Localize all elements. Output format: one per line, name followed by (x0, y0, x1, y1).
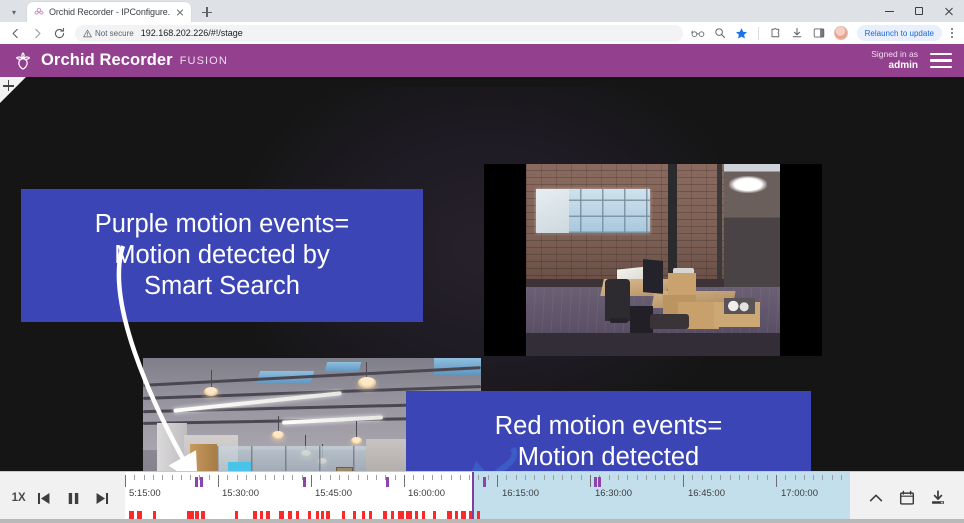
pause-icon[interactable] (62, 487, 84, 509)
timeline-label: 17:00:00 (781, 488, 818, 499)
orchid-app-header: Orchid Recorder FUSION Signed in as admi… (0, 44, 964, 77)
purple-motion-event[interactable] (598, 477, 601, 487)
tab-search-icon[interactable]: ▾ (3, 2, 25, 22)
app-root: ▾ Orchid Recorder - IPConfigure. (0, 0, 964, 523)
purple-annotation-text: Purple motion events= Motion detected by… (95, 209, 349, 302)
close-window-button[interactable] (934, 0, 964, 22)
skip-next-icon[interactable] (91, 487, 113, 509)
reload-icon[interactable] (48, 22, 70, 44)
red-annotation-text: Red motion events= Motion detected witho… (487, 411, 731, 471)
browser-tabstrip: ▾ Orchid Recorder - IPConfigure. (0, 0, 964, 22)
transport-bar: 1X 5:15:0015:30:0015:45:0016:00:0016:15:… (0, 471, 964, 523)
purple-motion-events[interactable] (125, 477, 850, 487)
chrome-menu-icon[interactable] (944, 23, 960, 43)
purple-annotation-callout: Purple motion events= Motion detected by… (21, 189, 423, 322)
zoom-search-icon[interactable] (710, 23, 730, 43)
maximize-button[interactable] (904, 0, 934, 22)
main-menu-icon[interactable] (930, 53, 952, 68)
red-annotation-callout: Red motion events= Motion detected witho… (406, 391, 811, 471)
camera-video-a (484, 164, 822, 356)
timeline-label: 15:45:00 (315, 488, 352, 499)
timeline-tools (850, 472, 964, 523)
side-panel-icon[interactable] (809, 23, 829, 43)
playback-speed-label[interactable]: 1X (12, 492, 26, 504)
url-text: 192.168.202.226/#!/stage (141, 28, 243, 38)
download-icon[interactable] (787, 23, 807, 43)
playback-controls: 1X (0, 472, 125, 523)
back-icon[interactable] (4, 22, 26, 44)
timeline[interactable]: 5:15:0015:30:0015:45:0016:00:0016:15:001… (125, 472, 850, 523)
warning-triangle-icon (83, 29, 92, 38)
purple-motion-event[interactable] (483, 477, 486, 487)
profile-avatar[interactable] (831, 23, 851, 43)
minimize-button[interactable] (874, 0, 904, 22)
playhead[interactable] (472, 472, 474, 523)
timeline-label: 16:00:00 (408, 488, 445, 499)
timeline-label: 16:15:00 (502, 488, 539, 499)
purple-motion-event[interactable] (200, 477, 203, 487)
address-bar[interactable]: Not secure 192.168.202.226/#!/stage (75, 25, 683, 42)
timeline-label: 5:15:00 (129, 488, 161, 499)
app-title: Orchid Recorder (41, 51, 173, 70)
timeline-time-labels: 5:15:0015:30:0015:45:0016:00:0016:15:001… (125, 488, 850, 504)
purple-motion-event[interactable] (386, 477, 389, 487)
forward-icon[interactable] (26, 22, 48, 44)
window-controls (874, 0, 964, 22)
orchid-favicon (34, 7, 44, 17)
toolbar-icons: Relaunch to update (688, 23, 960, 43)
purple-motion-event[interactable] (303, 477, 306, 487)
orchid-logo (12, 50, 34, 72)
toolbar-divider (758, 27, 759, 40)
skip-previous-icon[interactable] (33, 487, 55, 509)
bottom-scrollbar[interactable] (0, 519, 964, 523)
glasses-icon[interactable] (688, 23, 708, 43)
close-icon[interactable] (174, 6, 186, 18)
bookmark-star-icon[interactable] (732, 23, 752, 43)
puzzle-extension-icon[interactable] (765, 23, 785, 43)
browser-tab[interactable]: Orchid Recorder - IPConfigure. (27, 2, 191, 22)
chevron-up-icon[interactable] (864, 486, 888, 510)
timeline-label: 15:30:00 (222, 488, 259, 499)
video-stage: Purple motion events= Motion detected by… (0, 77, 964, 471)
camera-panel-top-right[interactable] (484, 164, 822, 356)
username-label: admin (871, 60, 918, 72)
relaunch-to-update-button[interactable]: Relaunch to update (857, 25, 942, 41)
timeline-label: 16:30:00 (595, 488, 632, 499)
app-edition: FUSION (180, 55, 228, 67)
calendar-icon[interactable] (895, 486, 919, 510)
signed-in-block: Signed in as admin (871, 50, 918, 71)
signed-in-label: Signed in as (871, 50, 918, 60)
browser-tab-title: Orchid Recorder - IPConfigure. (49, 7, 170, 17)
not-secure-indicator[interactable]: Not secure (83, 29, 134, 38)
purple-motion-event[interactable] (195, 477, 198, 487)
new-tab-button[interactable] (197, 2, 217, 22)
not-secure-label: Not secure (95, 29, 134, 38)
purple-motion-event[interactable] (594, 477, 597, 487)
export-download-icon[interactable] (926, 486, 950, 510)
plus-icon[interactable] (3, 80, 14, 91)
browser-toolbar: Not secure 192.168.202.226/#!/stage (0, 22, 964, 44)
timeline-label: 16:45:00 (688, 488, 725, 499)
